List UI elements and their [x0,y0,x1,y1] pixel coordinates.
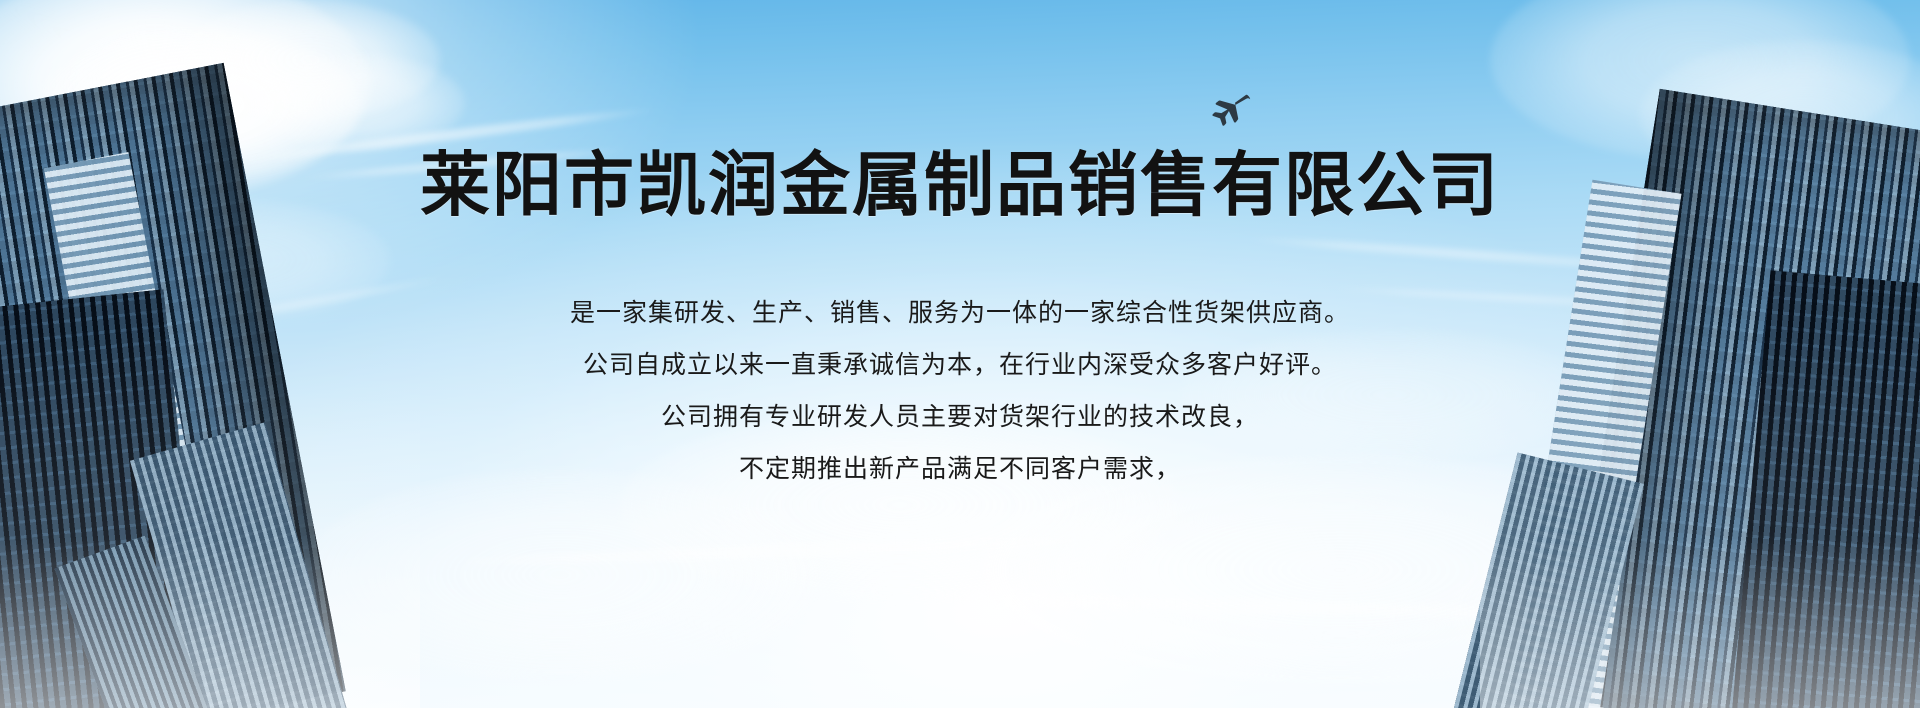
hero-banner: 莱阳市凯润金属制品销售有限公司 是一家集研发、生产、销售、服务为一体的一家综合性… [0,0,1920,708]
banner-text-block: 莱阳市凯润金属制品销售有限公司 是一家集研发、生产、销售、服务为一体的一家综合性… [0,0,1920,708]
tagline-line-1: 是一家集研发、生产、销售、服务为一体的一家综合性货架供应商。 [570,300,1350,325]
tagline-line-4: 不定期推出新产品满足不同客户需求， [739,456,1181,481]
company-title: 莱阳市凯润金属制品销售有限公司 [420,148,1500,224]
tagline-line-2: 公司自成立以来一直秉承诚信为本，在行业内深受众多客户好评。 [583,352,1337,377]
tagline-line-3: 公司拥有专业研发人员主要对货架行业的技术改良， [661,404,1259,429]
tagline-list: 是一家集研发、生产、销售、服务为一体的一家综合性货架供应商。 公司自成立以来一直… [570,300,1350,481]
